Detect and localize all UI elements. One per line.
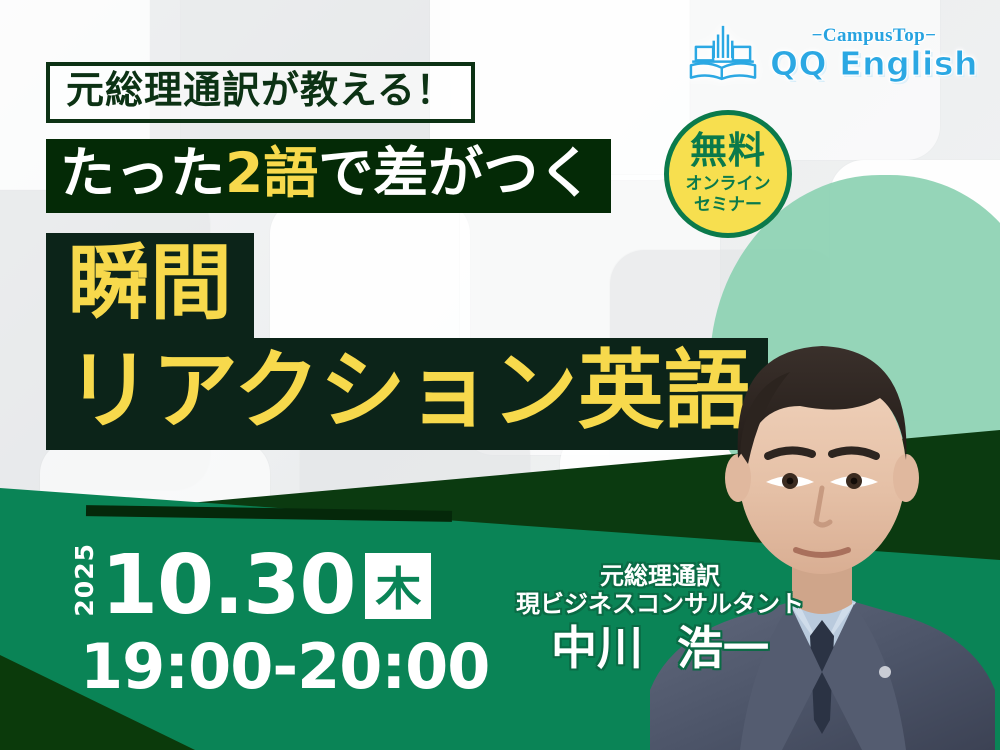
subline-post: で差がつく <box>318 141 593 205</box>
speaker-family-name: 中川 <box>551 623 643 674</box>
subline-highlight: 2語 <box>225 141 318 205</box>
campus-building-book-icon <box>686 22 760 84</box>
brand-tagline: −CampusTop− <box>812 26 937 45</box>
speaker-info: 元総理通訳 現ビジネスコンサルタント 中川 浩一 <box>510 562 810 673</box>
speaker-given-name: 浩一 <box>677 623 769 674</box>
speaker-role-line-2: 現ビジネスコンサルタント <box>510 590 810 618</box>
badge-line-1: 無料 <box>690 132 766 169</box>
brand-name: QQ English <box>770 47 978 80</box>
headline-kicker: 元総理通訳が教える！ <box>66 68 455 112</box>
speaker-name: 中川 浩一 <box>510 623 810 674</box>
title-line-1: 瞬間 <box>46 233 254 339</box>
event-date-number: 10.30 <box>101 548 355 623</box>
badge-line-3: セミナー <box>694 195 762 216</box>
speaker-role-line-1: 元総理通訳 <box>510 562 810 590</box>
headline-subline-band: たった2語で差がつく <box>46 139 611 213</box>
event-year: 2025 <box>72 543 97 617</box>
promo-banner: −CampusTop− QQ English 元総理通訳が教える！ たった2語で… <box>0 0 1000 750</box>
event-date: 2025 10.30 木 <box>72 543 431 624</box>
headline-kicker-box: 元総理通訳が教える！ <box>46 62 475 123</box>
badge-line-2: オンライン <box>686 174 771 195</box>
brand-logo: −CampusTop− QQ English <box>686 22 978 84</box>
event-time: 19:00-20:00 <box>80 636 489 698</box>
free-seminar-badge: 無料 オンライン セミナー <box>664 110 792 238</box>
event-weekday-badge: 木 <box>365 553 431 619</box>
subline-pre: たった <box>60 141 225 205</box>
